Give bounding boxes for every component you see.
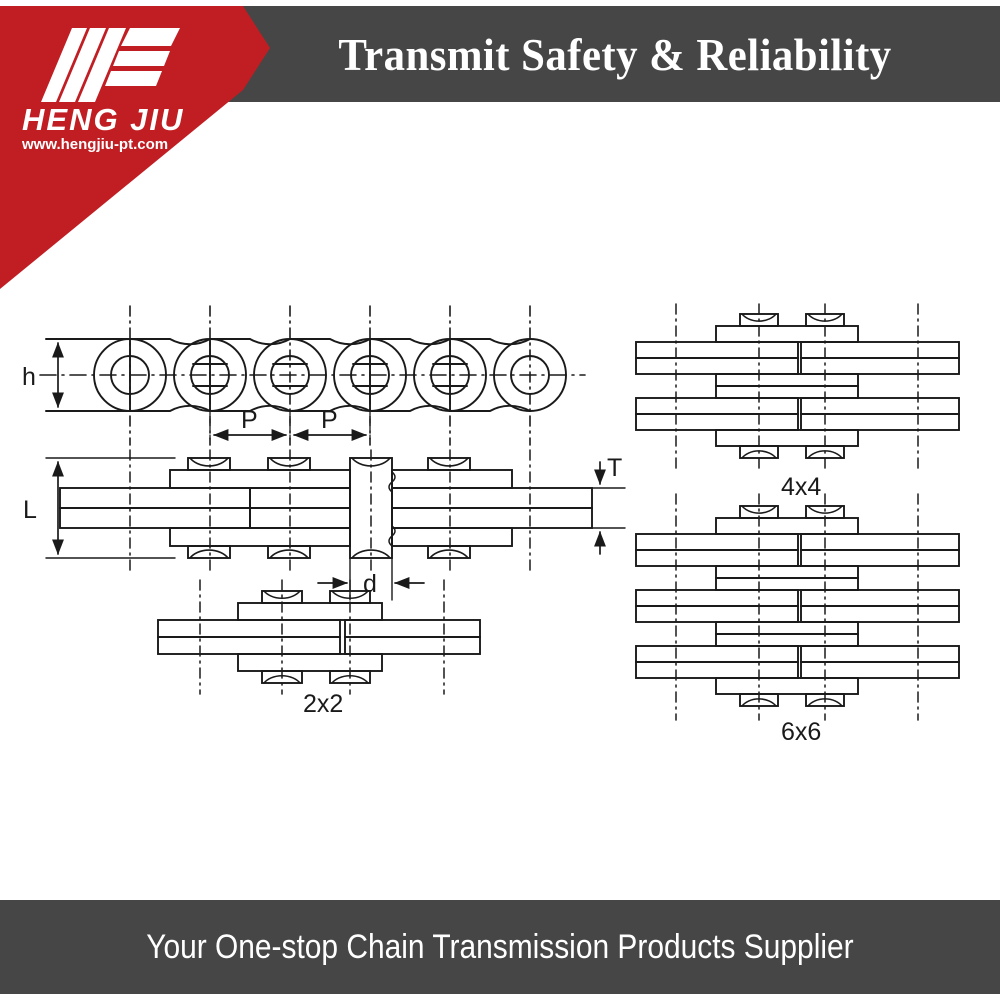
top-view-upper-plates bbox=[170, 470, 512, 488]
chain-side-view bbox=[40, 306, 585, 445]
section-label-4x4: 4x4 bbox=[781, 473, 821, 501]
dimension-label-l: L bbox=[23, 496, 37, 524]
top-view-upper-rivets bbox=[188, 458, 470, 470]
top-view-lower-plates bbox=[170, 528, 512, 546]
product-banner-image: Transmit Safety & Reliability HENG JIU w… bbox=[0, 0, 1000, 1000]
technical-drawing: h P P L T d 2x2 4x4 6x6 bbox=[0, 280, 1000, 760]
top-view-lower-rivets bbox=[188, 546, 470, 558]
section-label-2x2: 2x2 bbox=[303, 690, 343, 718]
dimension-label-d: d bbox=[363, 570, 377, 598]
dimension-label-p1: P bbox=[241, 406, 258, 434]
dimension-label-h: h bbox=[22, 363, 36, 391]
brand-wordmark: HENG JIU bbox=[22, 104, 198, 136]
page-title: Transmit Safety & Reliability bbox=[271, 6, 959, 102]
cross-section-2x2 bbox=[158, 580, 480, 694]
cross-section-6x6 bbox=[636, 494, 959, 720]
hengjiu-f-stripes-logo-icon bbox=[40, 24, 182, 106]
footer-tagline: Your One-stop Chain Transmission Product… bbox=[146, 928, 853, 967]
footer-bar: Your One-stop Chain Transmission Product… bbox=[0, 900, 1000, 994]
dimension-label-t: T bbox=[607, 454, 622, 482]
dimension-label-p2: P bbox=[321, 406, 338, 434]
brand-url: www.hengjiu-pt.com bbox=[22, 136, 202, 154]
chain-top-view bbox=[46, 450, 625, 600]
top-view-inner-rails bbox=[60, 488, 592, 528]
section-label-6x6: 6x6 bbox=[781, 718, 821, 746]
cross-section-4x4 bbox=[636, 304, 959, 472]
dimension-h bbox=[46, 339, 130, 411]
